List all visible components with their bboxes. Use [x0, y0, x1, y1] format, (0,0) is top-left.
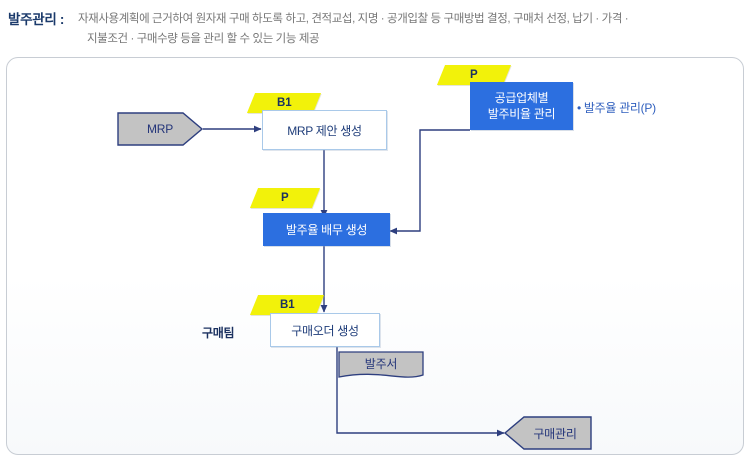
page-description-line2: 지불조건 · 구매수량 등을 관리 할 수 있는 기능 제공 — [78, 29, 744, 49]
node-mrp-proposal-label: MRP 제안 생성 — [287, 122, 362, 139]
node-purchase-order[interactable]: 구매오더 생성 — [270, 313, 380, 347]
node-purchase-management-label: 구매관리 — [533, 425, 576, 442]
page-description-line1: 자재사용계획에 근거하여 원자재 구매 하도록 하고, 견적교섭, 지명 · 공… — [78, 13, 628, 25]
page-description: 자재사용계획에 근거하여 원자재 구매 하도록 하고, 견적교섭, 지명 · 공… — [78, 9, 744, 49]
node-supplier-order-ratio-line2: 발주비율 관리 — [488, 106, 555, 122]
node-order-sheet[interactable]: 발주서 — [338, 351, 424, 384]
page-title: 발주관리 : — [8, 8, 64, 28]
node-supplier-order-ratio-line1: 공급업체별 — [495, 90, 549, 106]
node-purchase-management[interactable]: 구매관리 — [504, 416, 592, 450]
tag-p-ratio-distribution-label: P — [281, 192, 289, 204]
tag-b1-purchase-order-label: B1 — [280, 299, 295, 311]
node-mrp[interactable]: MRP — [117, 112, 203, 146]
tag-b1-purchase-order: B1 — [250, 295, 324, 315]
node-order-sheet-label: 발주서 — [338, 355, 424, 372]
node-mrp-proposal[interactable]: MRP 제안 생성 — [262, 110, 387, 150]
diagram-panel: MRP B1 MRP 제안 생성 P 공급업체별 발주비율 관리 • 발주율 관… — [6, 57, 744, 455]
node-ratio-distribution-label: 발주율 배무 생성 — [286, 222, 367, 238]
tag-p-ratio-distribution: P — [250, 188, 320, 208]
node-purchase-order-label: 구매오더 생성 — [291, 322, 358, 339]
node-mrp-label: MRP — [147, 122, 173, 136]
tag-p-supplier-ratio-label: P — [470, 69, 478, 81]
page-header: 발주관리 : 자재사용계획에 근거하여 원자재 구매 하도록 하고, 견적교섭,… — [0, 0, 750, 50]
node-supplier-order-ratio[interactable]: 공급업체별 발주비율 관리 — [470, 82, 573, 130]
label-purchasing-team: 구매팀 — [202, 324, 234, 341]
note-order-ratio-management: • 발주율 관리(P) — [577, 99, 656, 116]
node-ratio-distribution[interactable]: 발주율 배무 생성 — [263, 213, 390, 246]
tag-b1-mrp-proposal-label: B1 — [277, 97, 292, 109]
